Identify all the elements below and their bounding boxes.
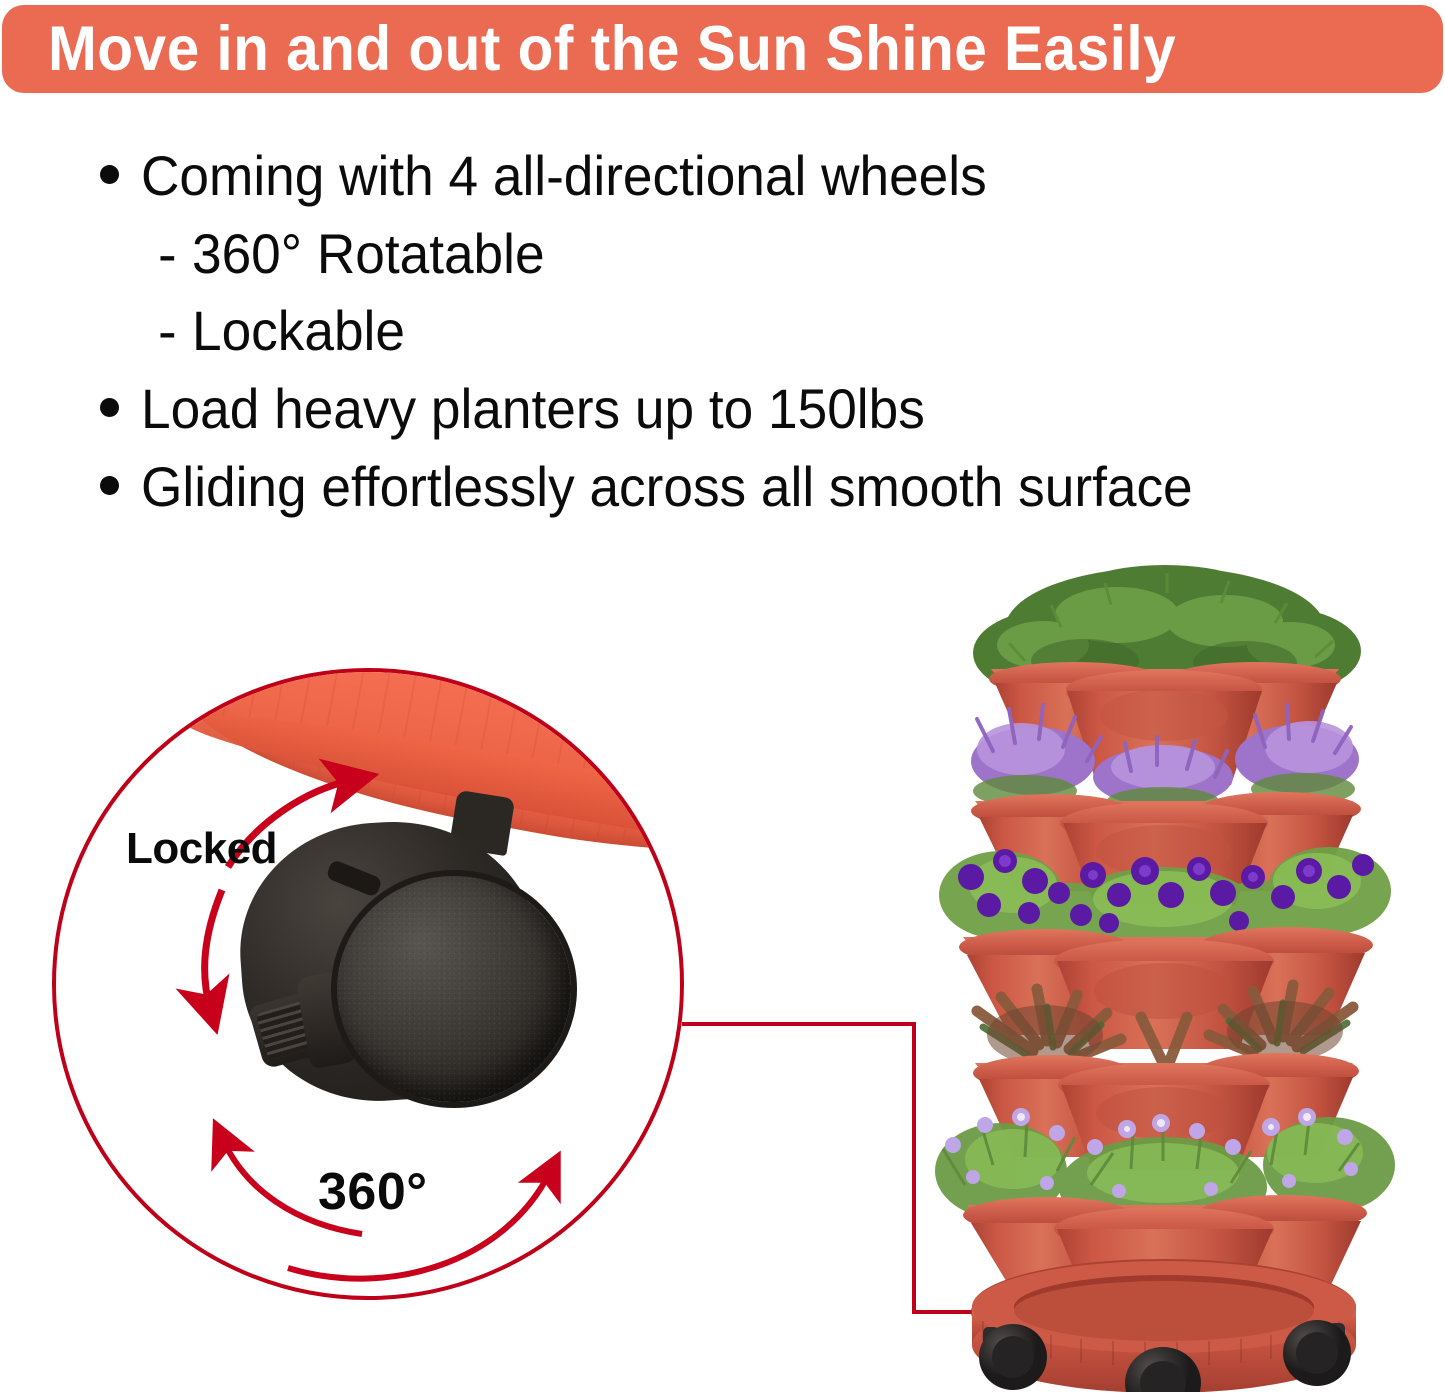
detail-circle-outline: Locked 360° (52, 668, 684, 1300)
feature-text: Coming with 4 all-directional wheels (141, 140, 987, 212)
banner-title: Move in and out of the Sun Shine Easily (48, 18, 1176, 81)
bullet-dot-icon (100, 398, 119, 417)
feature-sub-item: - Lockable (100, 295, 1430, 367)
dash-marker-icon: - (158, 221, 177, 286)
dash-marker-icon: - (158, 298, 177, 363)
feature-text: Gliding effortlessly across all smooth s… (141, 451, 1193, 523)
bullet-dot-icon (100, 165, 119, 184)
bullet-dot-icon (100, 476, 119, 495)
feature-item: Gliding effortlessly across all smooth s… (100, 451, 1430, 523)
rotation-label: 360° (318, 1162, 428, 1222)
feature-list: Coming with 4 all-directional wheels - 3… (100, 140, 1430, 528)
locked-arrow-down (205, 890, 222, 1008)
feature-text: 360° Rotatable (192, 218, 545, 290)
planter-tower-image (905, 565, 1425, 1392)
locked-label: Locked (126, 824, 277, 874)
caster-wheel-disc (337, 876, 571, 1102)
feature-text: Lockable (192, 295, 405, 367)
feature-item: Coming with 4 all-directional wheels (100, 140, 1430, 212)
caster-wheel-left (979, 1324, 1047, 1390)
caster-detail-callout: Locked 360° (52, 668, 684, 1300)
feature-text: Load heavy planters up to 150lbs (141, 373, 925, 445)
planter-tower-svg (905, 565, 1425, 1392)
feature-item: Load heavy planters up to 150lbs (100, 373, 1430, 445)
feature-sub-item: - 360° Rotatable (100, 218, 1430, 290)
caster-wheel-photo (241, 818, 571, 1118)
caster-wheel-right (1283, 1320, 1351, 1386)
rolling-plant-caddy-base (972, 1259, 1356, 1392)
header-banner: Move in and out of the Sun Shine Easily (2, 5, 1443, 93)
